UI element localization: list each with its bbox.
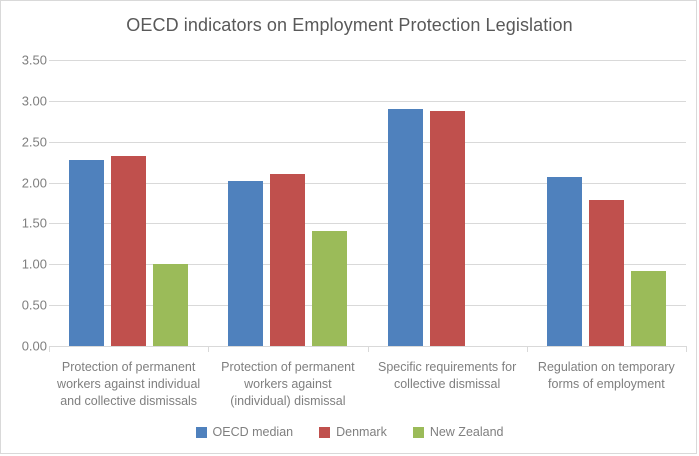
category-label-line: Specific requirements for: [368, 359, 527, 376]
legend-item[interactable]: New Zealand: [413, 425, 504, 439]
category-axis-tick: [368, 346, 369, 352]
category-axis-tick: [208, 346, 209, 352]
legend-swatch-icon: [413, 427, 424, 438]
category-label: Regulation on temporaryforms of employme…: [527, 359, 686, 393]
legend-item[interactable]: OECD median: [196, 425, 294, 439]
chart-container: OECD indicators on Employment Protection…: [0, 0, 697, 454]
category-axis-tick: [527, 346, 528, 352]
bar-group: [527, 60, 686, 346]
category-label-line: Protection of permanent: [208, 359, 367, 376]
bar-group: [49, 60, 208, 346]
y-axis-tick-label: 0.50: [3, 298, 47, 313]
legend-swatch-icon: [319, 427, 330, 438]
bar-group: [208, 60, 367, 346]
bar[interactable]: [589, 200, 624, 346]
bar-group: [368, 60, 527, 346]
bar[interactable]: [430, 111, 465, 346]
category-axis-labels: Protection of permanentworkers against i…: [49, 359, 686, 419]
category-label-line: Regulation on temporary: [527, 359, 686, 376]
y-axis-tick-label: 2.50: [3, 134, 47, 149]
category-axis-tick: [686, 346, 687, 352]
y-axis-tick-label: 1.00: [3, 257, 47, 272]
category-label-line: workers against individual: [49, 376, 208, 393]
plot-area: [49, 60, 686, 346]
category-label-line: forms of employment: [527, 376, 686, 393]
category-label: Protection of permanentworkers against i…: [49, 359, 208, 410]
y-axis-tick-label: 2.00: [3, 175, 47, 190]
category-label: Specific requirements forcollective dism…: [368, 359, 527, 393]
category-label-line: (individual) dismissal: [208, 393, 367, 410]
bar[interactable]: [270, 174, 305, 346]
y-axis-tick-label: 1.50: [3, 216, 47, 231]
bar[interactable]: [111, 156, 146, 346]
chart-title: OECD indicators on Employment Protection…: [1, 15, 698, 36]
legend-label: OECD median: [213, 425, 294, 439]
y-axis-tick-label: 3.00: [3, 93, 47, 108]
y-axis-tick-label: 0.00: [3, 339, 47, 354]
category-label-line: and collective dismissals: [49, 393, 208, 410]
bar[interactable]: [312, 231, 347, 346]
legend-label: New Zealand: [430, 425, 504, 439]
bar[interactable]: [69, 160, 104, 346]
bar[interactable]: [631, 271, 666, 346]
legend-swatch-icon: [196, 427, 207, 438]
chart-legend: OECD medianDenmarkNew Zealand: [1, 425, 698, 439]
category-label-line: workers against: [208, 376, 367, 393]
y-axis-tick-label: 3.50: [3, 53, 47, 68]
bar[interactable]: [388, 109, 423, 346]
legend-item[interactable]: Denmark: [319, 425, 387, 439]
category-label-line: collective dismissal: [368, 376, 527, 393]
legend-label: Denmark: [336, 425, 387, 439]
bar[interactable]: [228, 181, 263, 346]
bar[interactable]: [547, 177, 582, 346]
bar[interactable]: [153, 264, 188, 346]
category-axis-tick: [49, 346, 50, 352]
category-label-line: Protection of permanent: [49, 359, 208, 376]
category-label: Protection of permanentworkers against(i…: [208, 359, 367, 410]
